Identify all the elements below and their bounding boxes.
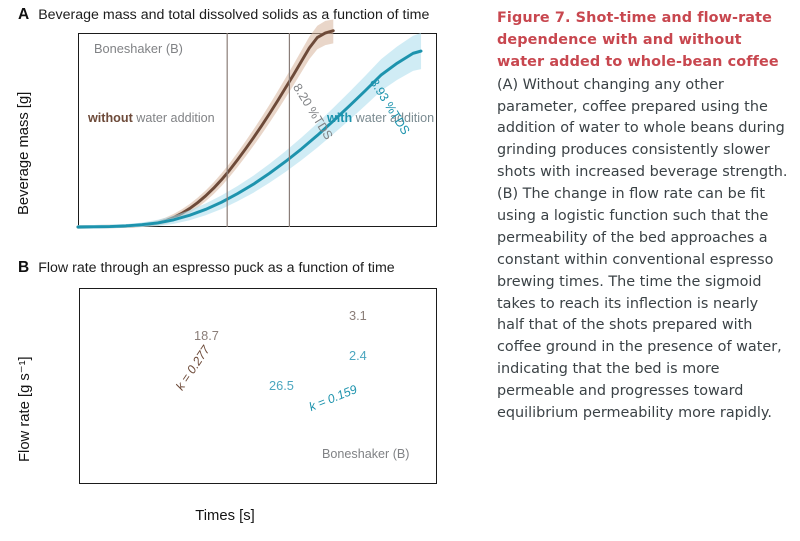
panel-b-roast-label: Boneshaker (B) [322, 447, 410, 461]
caption-paragraph-a: (A) Without changing any other parameter… [497, 75, 789, 184]
panel-b-header: B Flow rate through an espresso puck as … [18, 259, 395, 277]
panel-a-without-bold: without [88, 111, 133, 125]
caption-title: Figure 7. Shot-time and flow-rate depend… [497, 8, 789, 74]
figure-column: A Beverage mass and total dissolved soli… [0, 0, 480, 541]
caption-paragraph-b: (B) The change in flow rate can be fit u… [497, 184, 789, 425]
panel-a-with-label: with water addition [327, 111, 434, 125]
panel-a-plot: Boneshaker (B) without water addition wi… [78, 33, 437, 227]
figure-caption: Figure 7. Shot-time and flow-rate depend… [497, 8, 789, 425]
panel-b-letter: B [18, 259, 29, 277]
panel-b-plateau-brown-label: 3.1 [349, 308, 367, 323]
panel-b-plateau-teal-label: 2.4 [349, 348, 367, 363]
figure-page: A Beverage mass and total dissolved soli… [0, 0, 800, 541]
panel-b-x-axis-title: Times [s] [195, 508, 254, 524]
panel-a-letter: A [18, 6, 29, 24]
panel-a-header: A Beverage mass and total dissolved soli… [18, 6, 429, 24]
panel-a-with-bold: with [327, 111, 352, 125]
panel-a-without-label: without water addition [88, 111, 215, 125]
panel-a-curves [78, 33, 437, 227]
panel-b-title: Flow rate through an espresso puck as a … [38, 260, 394, 276]
panel-a-y-axis-title: Beverage mass [g] [16, 92, 32, 215]
caption-body: (A) Without changing any other parameter… [497, 75, 789, 425]
panel-b-inflection-teal-label: 26.5 [269, 378, 294, 393]
panel-b-plot: Boneshaker (B) 3.1 2.4 18.7 26.5 k = 0.2… [79, 288, 437, 484]
panel-a-title: Beverage mass and total dissolved solids… [38, 7, 429, 23]
panel-a-without-rest: water addition [133, 111, 215, 125]
panel-b-y-axis-title: Flow rate [g s⁻¹] [16, 356, 33, 462]
panel-b-inflection-brown-label: 18.7 [194, 328, 219, 343]
panel-a-roast-label: Boneshaker (B) [94, 41, 183, 56]
